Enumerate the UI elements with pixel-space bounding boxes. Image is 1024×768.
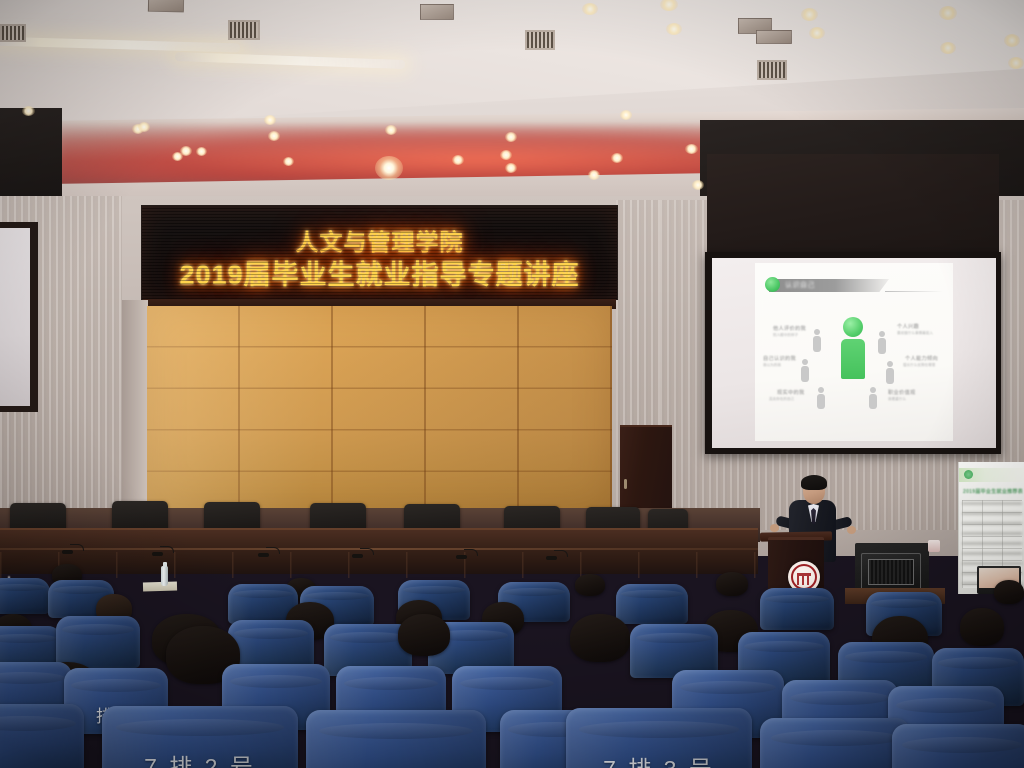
- stage-backdrop-panel: [147, 306, 612, 511]
- ceiling-downlight: [940, 42, 956, 54]
- slide-sublabel-left-3: 真实存在的自己: [769, 397, 794, 402]
- audience-head: [960, 608, 1004, 646]
- audience-seating-area: 排 4 排 5 7 排 2 号 7 排 3 号: [0, 558, 1024, 768]
- audience-head: [994, 580, 1024, 604]
- paper-cup: [928, 540, 940, 552]
- soffit-downlight: [620, 110, 632, 120]
- slide-label-right-1: 个人兴趣: [897, 323, 919, 330]
- slide-figure-body: [813, 336, 821, 352]
- soffit-downlight: [172, 152, 183, 161]
- slide-figure-body: [817, 394, 825, 409]
- ceiling-vent: [756, 30, 792, 44]
- soffit-downlight: [264, 115, 276, 125]
- audience-seat[interactable]: [56, 616, 140, 668]
- soffit-downlight: [22, 106, 35, 116]
- audience-seat-row7-3[interactable]: 7 排 3 号: [566, 708, 752, 768]
- audience-seat[interactable]: [892, 724, 1024, 768]
- slide-bullet-icon: [765, 277, 780, 292]
- slide-label-left-1: 他人评价的我: [773, 325, 806, 332]
- soffit-downlight-bright: [375, 156, 403, 180]
- ceiling-downlight: [809, 27, 825, 39]
- ceiling-speaker-grille: [757, 60, 787, 80]
- ceiling-speaker-grille: [228, 20, 260, 40]
- led-banner-line-1: 人文与管理学院: [142, 223, 617, 257]
- ceiling-downlight: [666, 23, 682, 35]
- ceiling-downlight: [801, 8, 818, 21]
- ceiling-vent: [420, 4, 454, 20]
- ceiling-downlight: [939, 6, 957, 20]
- audience-seat[interactable]: [616, 584, 688, 624]
- slide-label-right-2: 个人能力倾向: [905, 355, 938, 362]
- audience-seat-row7-2[interactable]: 7 排 2 号: [102, 706, 298, 768]
- slide-title-text: 认识自己: [785, 280, 815, 290]
- presenter-hand-right: [847, 526, 856, 534]
- slide-figure-body: [869, 394, 877, 409]
- soffit-downlight: [138, 122, 150, 132]
- gooseneck-microphone: [258, 547, 280, 557]
- audience-seat[interactable]: [0, 704, 84, 768]
- slide-label-right-3: 职业价值观: [888, 389, 915, 396]
- slide-label-left-2: 自己认识的我: [763, 355, 796, 362]
- dark-wall-panel: [0, 108, 62, 196]
- audience-head: [716, 572, 748, 596]
- presenter-hair: [801, 475, 827, 490]
- soffit-downlight: [692, 180, 704, 190]
- soffit-downlight: [196, 147, 207, 156]
- seat-label-row7-2: 7 排 2 号: [102, 748, 298, 768]
- audience-head: [570, 614, 630, 662]
- soffit-downlight: [500, 150, 512, 160]
- soffit-downlight: [452, 155, 464, 165]
- soffit-downlight: [685, 144, 698, 154]
- ceiling-downlight: [1004, 34, 1020, 47]
- stage-side-door[interactable]: [620, 425, 672, 520]
- slide-divider: [885, 291, 943, 292]
- slide-label-left-3: 现实中的我: [777, 389, 804, 396]
- gooseneck-microphone: [352, 548, 374, 558]
- soffit-downlight: [588, 170, 600, 180]
- soffit-downlight: [505, 132, 517, 142]
- presenter-hand-left: [770, 524, 779, 532]
- slide-figure-green-body: [841, 339, 865, 379]
- audience-seat[interactable]: [760, 588, 834, 630]
- audience-seat[interactable]: [306, 710, 486, 768]
- slide-sublabel-right-2: 擅长什么优势在哪里: [903, 363, 935, 368]
- ceiling-downlight: [582, 3, 598, 15]
- audience-seat[interactable]: [760, 718, 910, 768]
- slide-sublabel-left-2: 我以为的我: [763, 363, 781, 368]
- slide-figure-head: [887, 361, 893, 367]
- seat-label-row7-3: 7 排 3 号: [566, 750, 752, 768]
- soffit-downlight: [385, 125, 397, 135]
- soffit-downlight: [283, 157, 294, 166]
- slide-sublabel-right-1: 喜欢做什么事情最投入: [897, 331, 933, 336]
- soffit-downlight: [505, 163, 517, 173]
- slide-sublabel-right-3: 我看重什么: [888, 397, 906, 402]
- backdrop-left-edge: [122, 300, 148, 515]
- poster-logo-icon: [964, 470, 973, 479]
- secondary-projection-screen[interactable]: [0, 228, 30, 406]
- presentation-slide: 认识自己 他人评价的我 别人眼中的样子 自己认识的我 我以为的我 现实中的我 真…: [755, 263, 953, 441]
- slide-figure-green-head: [843, 317, 863, 337]
- slide-figure-body: [886, 368, 894, 384]
- slide-figure-head: [870, 387, 876, 393]
- slide-figure-body: [878, 338, 886, 354]
- auditorium-scene: 人文与管理学院 2019届毕业生就业指导专题讲座 认识自己 他人评价的我 别人眼…: [0, 0, 1024, 768]
- ceiling-downlight: [1008, 57, 1024, 69]
- soffit-downlight: [611, 153, 623, 163]
- soffit-downlight: [268, 131, 280, 141]
- led-banner-display: 人文与管理学院 2019届毕业生就业指导专题讲座: [141, 205, 618, 300]
- poster-title: 2019届毕业生就业推荐表: [963, 488, 1021, 495]
- audience-head: [398, 614, 450, 656]
- slide-figure-head: [802, 359, 808, 365]
- gooseneck-microphone: [62, 544, 84, 554]
- led-banner-line-2: 2019届毕业生就业指导专题讲座: [142, 253, 617, 292]
- slide-sublabel-left-1: 别人眼中的样子: [773, 333, 798, 338]
- slide-figure-head: [818, 387, 824, 393]
- gooseneck-microphone: [152, 546, 174, 556]
- ceiling-speaker-grille: [0, 24, 26, 42]
- audience-head: [575, 574, 605, 596]
- slide-figure-body: [801, 366, 809, 382]
- slide-figure-head: [879, 331, 885, 337]
- ceiling-speaker-grille: [525, 30, 555, 50]
- slide-figure-head: [814, 329, 820, 335]
- audience-seat[interactable]: [0, 578, 50, 614]
- ceiling-vent: [148, 0, 184, 12]
